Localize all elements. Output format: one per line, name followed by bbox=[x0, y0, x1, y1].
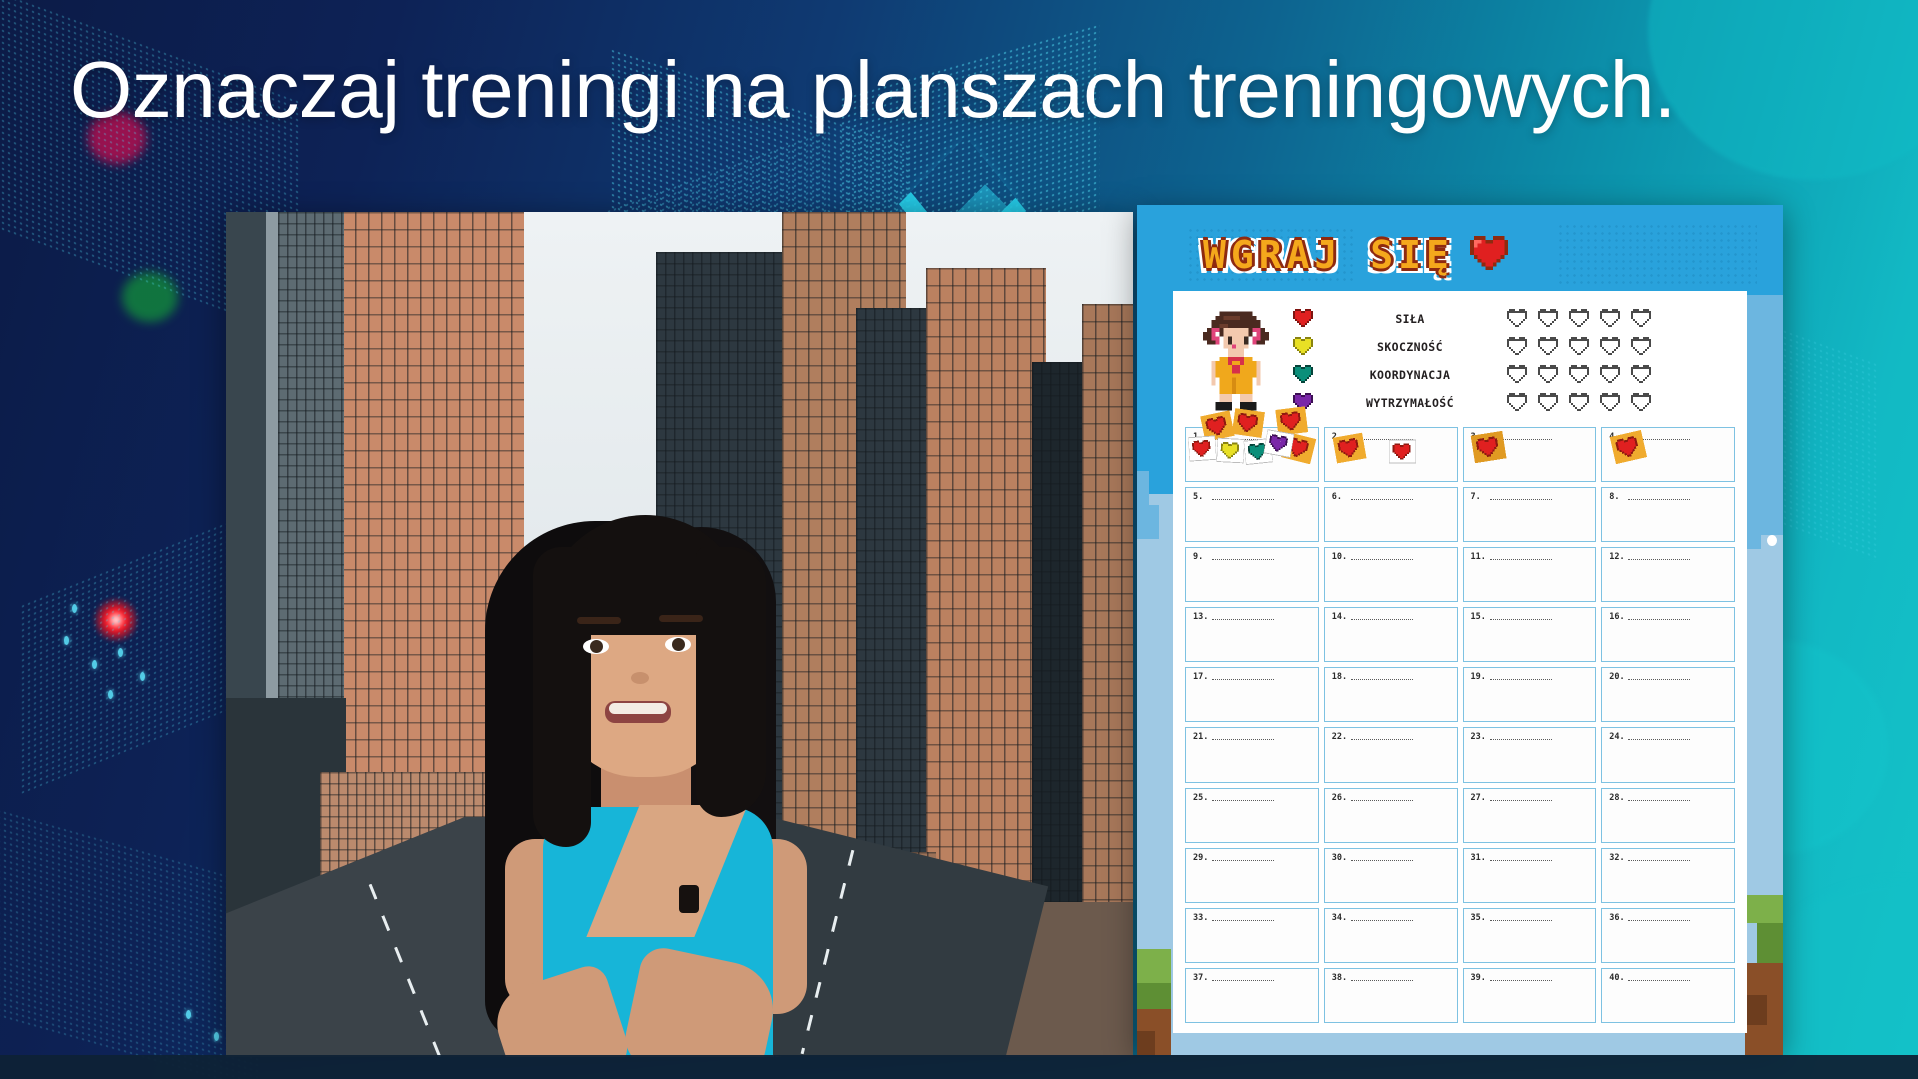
pixel-grass bbox=[1757, 923, 1783, 963]
training-cell[interactable]: 30. bbox=[1324, 848, 1458, 903]
training-cell[interactable]: 23. bbox=[1463, 727, 1597, 782]
training-cell-number: 15. bbox=[1471, 612, 1486, 622]
stat-heart-empty-icon[interactable] bbox=[1631, 337, 1653, 357]
training-cell[interactable]: 25. bbox=[1185, 788, 1319, 843]
decor-spark bbox=[186, 1010, 191, 1019]
decor-spark bbox=[214, 1032, 219, 1041]
training-cell[interactable]: 19. bbox=[1463, 667, 1597, 722]
training-cell-writing-line bbox=[1212, 499, 1274, 500]
pixel-cloud bbox=[1767, 535, 1777, 546]
pixel-grass bbox=[1745, 895, 1783, 923]
training-cell[interactable]: 10. bbox=[1324, 547, 1458, 602]
training-cell-number: 27. bbox=[1471, 793, 1486, 803]
training-cell-writing-line bbox=[1490, 739, 1552, 740]
training-cell[interactable]: 24. bbox=[1601, 727, 1735, 782]
stat-heart-empty-icon[interactable] bbox=[1631, 393, 1653, 413]
stat-heart-empty-icon[interactable] bbox=[1569, 309, 1591, 329]
pixel-girl-avatar bbox=[1199, 307, 1273, 415]
training-cell-number: 11. bbox=[1471, 552, 1486, 562]
pixel-step bbox=[1137, 505, 1159, 539]
training-cell-number: 25. bbox=[1193, 793, 1208, 803]
stat-heart-filled-icon bbox=[1293, 365, 1315, 385]
mouth bbox=[605, 701, 671, 723]
stat-hearts-track[interactable] bbox=[1507, 393, 1653, 413]
training-cell-writing-line bbox=[1351, 980, 1413, 981]
training-cell[interactable]: 11. bbox=[1463, 547, 1597, 602]
training-cell-writing-line bbox=[1490, 559, 1552, 560]
training-cell[interactable]: 32. bbox=[1601, 848, 1735, 903]
stat-heart-empty-icon[interactable] bbox=[1600, 393, 1622, 413]
training-cell-number: 1. bbox=[1193, 432, 1203, 442]
training-board-panel[interactable]: WGRAJ SIĘ bbox=[1137, 205, 1783, 1055]
training-cell-writing-line bbox=[1351, 860, 1413, 861]
pixel-heart-icon bbox=[1470, 236, 1512, 274]
pixel-dirt bbox=[1137, 1031, 1155, 1055]
training-cell-number: 39. bbox=[1471, 973, 1486, 983]
decor-spark bbox=[72, 604, 77, 613]
training-cell-writing-line bbox=[1212, 439, 1274, 440]
teeth bbox=[609, 703, 667, 714]
training-cell[interactable]: 18. bbox=[1324, 667, 1458, 722]
stat-hearts-track[interactable] bbox=[1507, 309, 1653, 329]
stat-name: SIŁA bbox=[1329, 312, 1491, 326]
training-cell-writing-line bbox=[1351, 920, 1413, 921]
training-cell-number: 10. bbox=[1332, 552, 1347, 562]
stat-heart-empty-icon[interactable] bbox=[1600, 337, 1622, 357]
decor-dot-mesh-left-lower bbox=[20, 516, 240, 795]
training-cell-writing-line bbox=[1628, 679, 1690, 680]
training-cell-writing-line bbox=[1628, 439, 1690, 440]
stat-name: KOORDYNACJA bbox=[1329, 368, 1491, 382]
decor-dot-mesh-bottom-left bbox=[0, 797, 260, 1079]
training-cell-number: 2. bbox=[1332, 432, 1342, 442]
training-cell[interactable]: 22. bbox=[1324, 727, 1458, 782]
training-cell-number: 4. bbox=[1609, 432, 1619, 442]
training-cell-writing-line bbox=[1490, 980, 1552, 981]
training-cell-number: 38. bbox=[1332, 973, 1347, 983]
pixel-grass bbox=[1137, 949, 1171, 983]
eyebrow bbox=[659, 615, 703, 622]
training-cell-writing-line bbox=[1490, 679, 1552, 680]
training-cell-number: 37. bbox=[1193, 973, 1208, 983]
training-cell-writing-line bbox=[1351, 679, 1413, 680]
training-cell-writing-line bbox=[1351, 739, 1413, 740]
training-cell-number: 31. bbox=[1471, 853, 1486, 863]
training-cell[interactable]: 8. bbox=[1601, 487, 1735, 542]
hair-side-right bbox=[696, 547, 766, 817]
training-cell-number: 7. bbox=[1471, 492, 1481, 502]
training-cell-writing-line bbox=[1212, 920, 1274, 921]
training-cell-writing-line bbox=[1628, 739, 1690, 740]
pixel-step bbox=[1137, 471, 1149, 505]
training-cell-writing-line bbox=[1490, 439, 1552, 440]
training-cell[interactable]: 16. bbox=[1601, 607, 1735, 662]
training-cell[interactable]: 14. bbox=[1324, 607, 1458, 662]
presenter bbox=[481, 487, 821, 1057]
training-cell[interactable]: 37. bbox=[1185, 968, 1319, 1023]
stat-heart-empty-icon[interactable] bbox=[1538, 365, 1560, 385]
stat-block: SIŁA SKO bbox=[1187, 301, 1735, 421]
training-cell[interactable]: 17. bbox=[1185, 667, 1319, 722]
decor-spark bbox=[108, 690, 113, 699]
training-cell[interactable]: 34. bbox=[1324, 908, 1458, 963]
training-cell-number: 13. bbox=[1193, 612, 1208, 622]
slide-title: Oznaczaj treningi na planszach treningow… bbox=[70, 48, 1870, 132]
stat-heart-empty-icon[interactable] bbox=[1631, 365, 1653, 385]
training-cell[interactable]: 29. bbox=[1185, 848, 1319, 903]
training-cell[interactable]: 40. bbox=[1601, 968, 1735, 1023]
stat-heart-empty-icon[interactable] bbox=[1507, 309, 1529, 329]
stat-row: KOORDYNACJA bbox=[1293, 361, 1733, 389]
training-cell-writing-line bbox=[1490, 499, 1552, 500]
stat-row: SKOCZNOŚĆ bbox=[1293, 333, 1733, 361]
stat-heart-empty-icon[interactable] bbox=[1569, 365, 1591, 385]
training-cell[interactable]: 5. bbox=[1185, 487, 1319, 542]
training-cell[interactable]: 13. bbox=[1185, 607, 1319, 662]
stat-heart-empty-icon[interactable] bbox=[1538, 337, 1560, 357]
training-cell[interactable]: 36. bbox=[1601, 908, 1735, 963]
stat-heart-empty-icon[interactable] bbox=[1507, 365, 1529, 385]
slide-canvas: Oznaczaj treningi na planszach treningow… bbox=[0, 0, 1918, 1079]
training-cell[interactable]: 28. bbox=[1601, 788, 1735, 843]
stat-heart-filled-icon bbox=[1293, 309, 1315, 329]
stat-heart-empty-icon[interactable] bbox=[1600, 309, 1622, 329]
stat-row: SIŁA bbox=[1293, 305, 1733, 333]
stat-heart-empty-icon[interactable] bbox=[1507, 393, 1529, 413]
training-cell-number: 28. bbox=[1609, 793, 1624, 803]
board-title: WGRAJ SIĘ bbox=[1203, 233, 1454, 277]
training-cell-writing-line bbox=[1212, 980, 1274, 981]
decor-spark bbox=[140, 672, 145, 681]
pixel-step bbox=[1745, 295, 1783, 535]
stat-heart-empty-icon[interactable] bbox=[1538, 393, 1560, 413]
training-cell[interactable]: 35. bbox=[1463, 908, 1597, 963]
training-cell-number: 34. bbox=[1332, 913, 1347, 923]
hair-side-left bbox=[533, 547, 591, 847]
decor-spark bbox=[92, 660, 97, 669]
lapel-mic-icon bbox=[679, 885, 699, 913]
training-cell-number: 40. bbox=[1609, 973, 1624, 983]
training-cell[interactable]: 33. bbox=[1185, 908, 1319, 963]
training-cell-writing-line bbox=[1628, 980, 1690, 981]
stat-name: SKOCZNOŚĆ bbox=[1329, 340, 1491, 354]
training-cell-writing-line bbox=[1351, 499, 1413, 500]
training-cell-number: 26. bbox=[1332, 793, 1347, 803]
training-cell-writing-line bbox=[1490, 800, 1552, 801]
training-cell-writing-line bbox=[1628, 800, 1690, 801]
stat-heart-empty-icon[interactable] bbox=[1631, 309, 1653, 329]
training-grid[interactable]: 1.2.3.4.5.6.7.8.9.10.11.12.13.14.15.16.1… bbox=[1185, 427, 1735, 1023]
training-cell-number: 33. bbox=[1193, 913, 1208, 923]
pixel-step bbox=[1745, 535, 1761, 549]
training-cell-writing-line bbox=[1212, 860, 1274, 861]
training-cell-writing-line bbox=[1490, 619, 1552, 620]
stat-heart-filled-icon bbox=[1293, 393, 1315, 413]
training-cell[interactable]: 39. bbox=[1463, 968, 1597, 1023]
board-header: WGRAJ SIĘ bbox=[1203, 229, 1673, 281]
stat-name: WYTRZYMAŁOŚĆ bbox=[1329, 396, 1491, 410]
training-cell-writing-line bbox=[1212, 739, 1274, 740]
eyebrow bbox=[577, 617, 621, 624]
training-cell-writing-line bbox=[1351, 439, 1413, 440]
training-cell-writing-line bbox=[1212, 619, 1274, 620]
stat-hearts-track[interactable] bbox=[1507, 337, 1653, 357]
training-cell[interactable]: 4. bbox=[1601, 427, 1735, 482]
training-cell-number: 24. bbox=[1609, 732, 1624, 742]
stat-heart-filled-icon bbox=[1293, 337, 1315, 357]
training-cell-writing-line bbox=[1628, 499, 1690, 500]
training-cell-number: 17. bbox=[1193, 672, 1208, 682]
training-cell-writing-line bbox=[1351, 800, 1413, 801]
board-paper: SIŁA SKO bbox=[1173, 291, 1747, 1033]
training-cell-number: 19. bbox=[1471, 672, 1486, 682]
training-cell-number: 20. bbox=[1609, 672, 1624, 682]
training-cell-writing-line bbox=[1351, 559, 1413, 560]
training-cell-writing-line bbox=[1212, 559, 1274, 560]
training-cell-writing-line bbox=[1490, 920, 1552, 921]
training-cell-writing-line bbox=[1628, 920, 1690, 921]
training-cell-writing-line bbox=[1628, 860, 1690, 861]
training-cell-number: 23. bbox=[1471, 732, 1486, 742]
training-cell-number: 14. bbox=[1332, 612, 1347, 622]
training-cell[interactable]: 6. bbox=[1324, 487, 1458, 542]
pupil bbox=[672, 638, 685, 651]
stat-heart-empty-icon[interactable] bbox=[1600, 365, 1622, 385]
video-still[interactable] bbox=[226, 212, 1133, 1057]
training-cell-number: 30. bbox=[1332, 853, 1347, 863]
training-cell-writing-line bbox=[1212, 679, 1274, 680]
training-cell[interactable]: 15. bbox=[1463, 607, 1597, 662]
training-cell-number: 3. bbox=[1471, 432, 1481, 442]
training-cell[interactable]: 31. bbox=[1463, 848, 1597, 903]
pupil bbox=[590, 640, 603, 653]
stat-heart-empty-icon[interactable] bbox=[1507, 337, 1529, 357]
training-cell-number: 18. bbox=[1332, 672, 1347, 682]
training-cell-number: 22. bbox=[1332, 732, 1347, 742]
stat-heart-empty-icon[interactable] bbox=[1538, 309, 1560, 329]
training-cell[interactable]: 20. bbox=[1601, 667, 1735, 722]
training-cell-number: 9. bbox=[1193, 552, 1203, 562]
training-cell-writing-line bbox=[1490, 860, 1552, 861]
training-cell[interactable]: 12. bbox=[1601, 547, 1735, 602]
decor-spark bbox=[118, 648, 123, 657]
training-cell-number: 21. bbox=[1193, 732, 1208, 742]
pixel-grass bbox=[1137, 983, 1171, 1009]
training-cell-number: 16. bbox=[1609, 612, 1624, 622]
training-cell[interactable]: 26. bbox=[1324, 788, 1458, 843]
training-cell[interactable]: 1. bbox=[1185, 427, 1319, 482]
training-cell-number: 29. bbox=[1193, 853, 1208, 863]
nose bbox=[631, 672, 649, 684]
stat-row: WYTRZYMAŁOŚĆ bbox=[1293, 389, 1733, 417]
bottom-bar bbox=[0, 1055, 1918, 1079]
training-cell-number: 5. bbox=[1193, 492, 1203, 502]
stat-list: SIŁA SKO bbox=[1293, 305, 1733, 417]
training-cell-number: 8. bbox=[1609, 492, 1619, 502]
training-cell-number: 36. bbox=[1609, 913, 1624, 923]
stat-heart-empty-icon[interactable] bbox=[1569, 337, 1591, 357]
pixel-dirt bbox=[1745, 995, 1767, 1025]
training-cell[interactable]: 7. bbox=[1463, 487, 1597, 542]
training-cell-writing-line bbox=[1351, 619, 1413, 620]
training-cell-number: 35. bbox=[1471, 913, 1486, 923]
training-cell-number: 12. bbox=[1609, 552, 1624, 562]
training-cell[interactable]: 3. bbox=[1463, 427, 1597, 482]
training-cell-writing-line bbox=[1212, 800, 1274, 801]
training-cell-number: 32. bbox=[1609, 853, 1624, 863]
stat-hearts-track[interactable] bbox=[1507, 365, 1653, 385]
training-cell[interactable]: 9. bbox=[1185, 547, 1319, 602]
training-cell[interactable]: 27. bbox=[1463, 788, 1597, 843]
stat-heart-empty-icon[interactable] bbox=[1569, 393, 1591, 413]
training-cell-writing-line bbox=[1628, 619, 1690, 620]
training-cell[interactable]: 2. bbox=[1324, 427, 1458, 482]
training-cell[interactable]: 38. bbox=[1324, 968, 1458, 1023]
decor-spark bbox=[64, 636, 69, 645]
training-cell-writing-line bbox=[1628, 559, 1690, 560]
training-cell-number: 6. bbox=[1332, 492, 1342, 502]
training-cell[interactable]: 21. bbox=[1185, 727, 1319, 782]
